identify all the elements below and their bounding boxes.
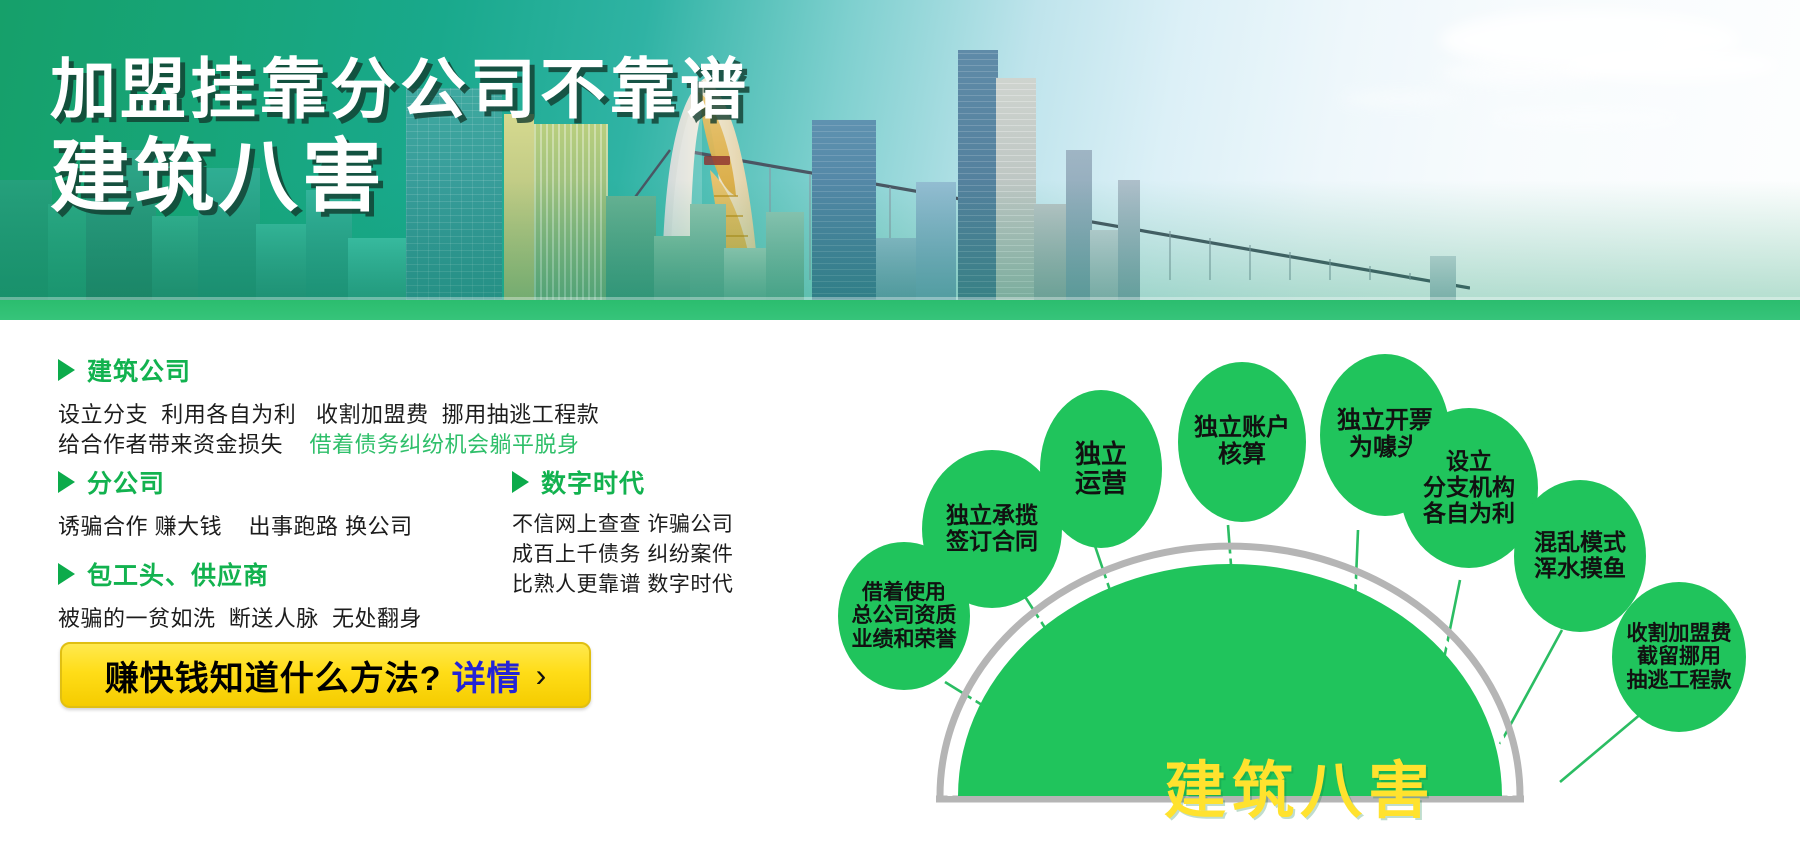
- section-title: 建筑公司: [87, 352, 191, 388]
- section-body: 设立分支 利用各自为利 收割加盟费 挪用抽逃工程款 给合作者带来资金损失 借着债…: [58, 400, 599, 460]
- triangle-bullet-icon: [512, 471, 529, 493]
- bubble-8[interactable]: 收割加盟费 截留挪用 抽逃工程款: [1612, 582, 1746, 732]
- triangle-bullet-icon: [58, 563, 75, 585]
- bubble-line: 运营: [1075, 469, 1127, 498]
- bubble-line: 签订合同: [946, 529, 1038, 555]
- body-line: 诱骗合作 赚大钱 出事跑路 换公司: [58, 512, 413, 542]
- bubble-line: 设立: [1446, 449, 1492, 475]
- bubble-line: 截留挪用: [1637, 645, 1721, 669]
- body-line: 给合作者带来资金损失 借着债务纠纷机会躺平脱身: [58, 430, 599, 460]
- dome-label: 建筑八害: [1055, 740, 1545, 830]
- triangle-bullet-icon: [58, 471, 75, 493]
- section-construction-company: 建筑公司 设立分支 利用各自为利 收割加盟费 挪用抽逃工程款 给合作者带来资金损…: [58, 352, 599, 460]
- bubble-line: 核算: [1218, 442, 1266, 469]
- bubble-line: 浑水摸鱼: [1534, 556, 1626, 582]
- body-text-highlight: 借着债务纠纷机会躺平脱身: [309, 432, 579, 457]
- cta-main-label: 赚快钱知道什么方法?: [105, 651, 442, 700]
- cta-button[interactable]: 赚快钱知道什么方法? 详情 ›: [60, 642, 591, 708]
- bubble-line: 业绩和荣誉: [852, 628, 957, 652]
- bubble-line: 混乱模式: [1534, 530, 1626, 556]
- bubble-line: 独立账户: [1194, 415, 1290, 442]
- section-branch-company: 分公司 诱骗合作 赚大钱 出事跑路 换公司: [58, 464, 413, 542]
- bubble-line: 借着使用: [862, 581, 946, 605]
- bubble-line: 各自为利: [1423, 501, 1515, 527]
- body-line: 不信网上查查 诈骗公司: [512, 510, 733, 540]
- section-heading: 包工头、供应商: [58, 556, 422, 592]
- section-title: 分公司: [87, 464, 165, 500]
- bubble-line: 独立开票: [1337, 408, 1433, 435]
- hero-banner: 加盟挂靠分公司不靠谱 建筑八害: [0, 0, 1800, 320]
- body-line: 比熟人更靠谱 数字时代: [512, 570, 733, 600]
- body-line: 被骗的一贫如洗 断送人脉 无处翻身: [58, 604, 422, 634]
- bubble-line: 独立承揽: [946, 503, 1038, 529]
- body-line: 设立分支 利用各自为利 收割加盟费 挪用抽逃工程款: [58, 400, 599, 430]
- chevron-right-icon: ›: [536, 657, 547, 694]
- section-contractor-supplier: 包工头、供应商 被骗的一贫如洗 断送人脉 无处翻身: [58, 556, 422, 634]
- section-body: 被骗的一贫如洗 断送人脉 无处翻身: [58, 604, 422, 634]
- right-diagram-panel: 借着使用 总公司资质 业绩和荣誉 独立承揽 签订合同 独立 运营 独立账户 核算…: [800, 330, 1800, 844]
- left-content-panel: 建筑公司 设立分支 利用各自为利 收割加盟费 挪用抽逃工程款 给合作者带来资金损…: [0, 330, 820, 844]
- section-title: 数字时代: [541, 464, 645, 500]
- body-text: 给合作者带来资金损失: [58, 432, 283, 457]
- headline-group: 加盟挂靠分公司不靠谱 建筑八害: [50, 55, 750, 220]
- section-body: 诱骗合作 赚大钱 出事跑路 换公司: [58, 512, 413, 542]
- bubble-line: 分支机构: [1423, 475, 1515, 501]
- bubble-line: 独立: [1075, 440, 1127, 469]
- section-heading: 建筑公司: [58, 352, 599, 388]
- bubble-line: 抽逃工程款: [1627, 669, 1732, 693]
- headline-line-2: 建筑八害: [50, 135, 750, 220]
- cta-link-label[interactable]: 详情: [452, 651, 522, 700]
- headline-line-1: 加盟挂靠分公司不靠谱: [50, 55, 750, 125]
- triangle-bullet-icon: [58, 359, 75, 381]
- bubble-line: 总公司资质: [852, 604, 957, 628]
- cloud-shape: [1490, 110, 1680, 126]
- body-line: 成百上千债务 纠纷案件: [512, 540, 733, 570]
- section-heading: 数字时代: [512, 464, 733, 500]
- section-title: 包工头、供应商: [87, 556, 269, 592]
- bubble-4[interactable]: 独立账户 核算: [1178, 362, 1306, 522]
- section-digital-era: 数字时代 不信网上查查 诈骗公司 成百上千债务 纠纷案件 比熟人更靠谱 数字时代: [512, 464, 733, 599]
- bubble-line: 收割加盟费: [1627, 622, 1732, 646]
- banner-green-strip: [0, 300, 1800, 320]
- section-body: 不信网上查查 诈骗公司 成百上千债务 纠纷案件 比熟人更靠谱 数字时代: [512, 510, 733, 599]
- section-heading: 分公司: [58, 464, 413, 500]
- poster-root: 加盟挂靠分公司不靠谱 建筑八害 建筑公司 设立分支 利用各自为利 收割加盟费 挪…: [0, 0, 1800, 844]
- bubble-3[interactable]: 独立 运营: [1040, 390, 1162, 548]
